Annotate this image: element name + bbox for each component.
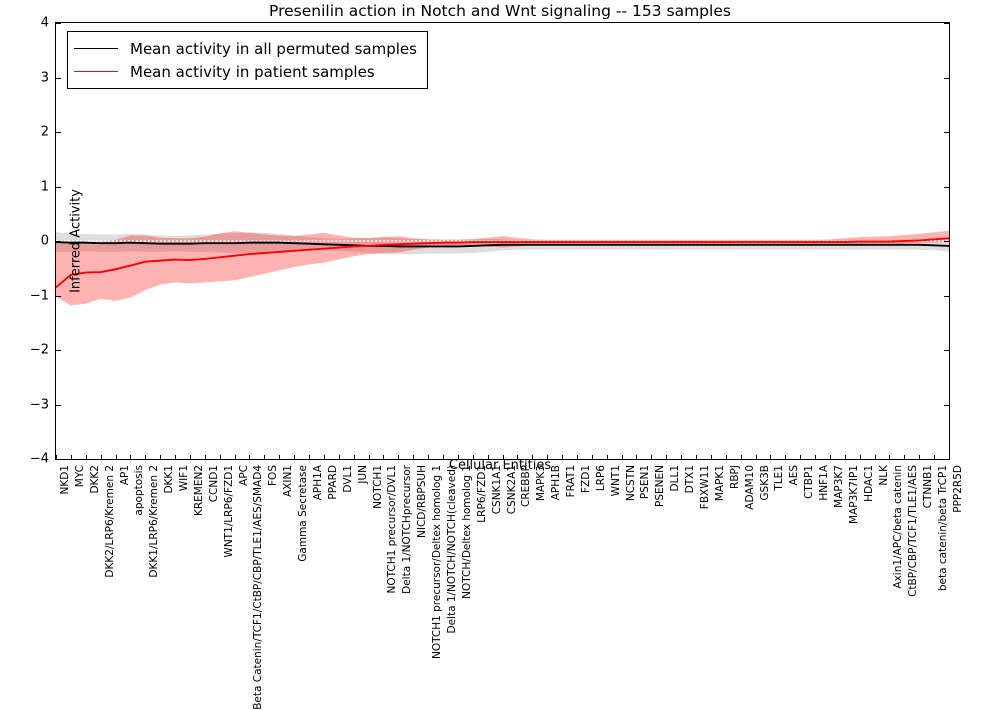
- legend-swatch-permuted: [74, 48, 118, 49]
- x-tick-label: Delta 1/NOTCH/NOTCH(cleaved): [447, 465, 458, 634]
- x-tick-label: LRP6/FZD1: [477, 465, 488, 523]
- x-tick-label: DKK1/LRP6/Kremen 2: [149, 465, 160, 578]
- y-tick-mark: [944, 241, 949, 242]
- x-tick-label: Axin1/APC/beta catenin: [893, 465, 904, 589]
- y-tick-mark: [944, 132, 949, 133]
- x-tick-label: DKK2/LRP6/Kremen 2: [105, 465, 116, 578]
- chart-figure: Presenilin action in Notch and Wnt signa…: [0, 0, 1000, 500]
- y-tick-mark: [944, 78, 949, 79]
- y-tick-label: 3: [41, 70, 49, 85]
- x-tick-label: MAP3K7IP1: [849, 465, 860, 524]
- x-tick-label: beta catenin/beta TrCP1: [938, 465, 949, 591]
- y-tick-mark: [56, 187, 61, 188]
- y-tick-mark: [56, 296, 61, 297]
- y-tick-label: −3: [30, 397, 49, 412]
- y-tick-label: 2: [41, 125, 49, 140]
- legend-item-permuted: Mean activity in all permuted samples: [74, 37, 417, 60]
- y-tick-label: 1: [41, 179, 49, 194]
- y-tick-mark: [56, 350, 61, 351]
- x-tick-label: NOTCH/Deltex homolog 1: [462, 465, 473, 599]
- y-tick-mark: [944, 23, 949, 24]
- y-axis-label: Inferred Activity: [68, 189, 83, 293]
- y-tick-mark: [56, 132, 61, 133]
- chart-legend: Mean activity in all permuted samples Me…: [67, 31, 428, 89]
- legend-label-permuted: Mean activity in all permuted samples: [130, 40, 417, 58]
- y-tick-mark: [944, 296, 949, 297]
- y-tick-mark: [944, 350, 949, 351]
- y-tick-label: 4: [41, 16, 49, 31]
- x-tick-label: NOTCH1 precursor/DVL1: [387, 465, 398, 593]
- x-tick-label: Delta 1/NOTCHprecursor: [402, 465, 413, 594]
- y-tick-mark: [944, 405, 949, 406]
- confidence-band-patient: [56, 222, 949, 305]
- x-axis-label: Cellular Entities: [0, 458, 1000, 473]
- x-tick-label: NOTCH1 precursor/Deltex homolog 1: [432, 465, 443, 659]
- legend-label-patient: Mean activity in patient samples: [130, 63, 375, 81]
- y-tick-mark: [56, 23, 61, 24]
- y-tick-label: −1: [30, 288, 49, 303]
- chart-title: Presenilin action in Notch and Wnt signa…: [0, 2, 1000, 20]
- legend-swatch-patient: [74, 71, 118, 72]
- y-tick-label: 0: [41, 234, 49, 249]
- y-tick-mark: [56, 78, 61, 79]
- x-tick-label: Beta Catenin/TCF1/CtBP/CBP/TLE1/AES/SMAD…: [253, 465, 264, 710]
- y-tick-mark: [56, 405, 61, 406]
- x-tick-label: Gamma Secretase: [298, 465, 309, 562]
- plot-area: Inferred Activity 43210−1−2−3−4 NKD1MYCD…: [55, 22, 950, 460]
- y-tick-label: −2: [30, 343, 49, 358]
- y-tick-mark: [944, 187, 949, 188]
- x-tick-label: NICD/RBPSUH: [417, 465, 428, 538]
- legend-item-patient: Mean activity in patient samples: [74, 60, 417, 83]
- x-tick-label: CtBP/CBP/TCF1/TLE1/AES: [908, 465, 919, 597]
- y-tick-mark: [56, 241, 61, 242]
- x-tick-label: WNT1/LRP6/FZD1: [224, 465, 235, 558]
